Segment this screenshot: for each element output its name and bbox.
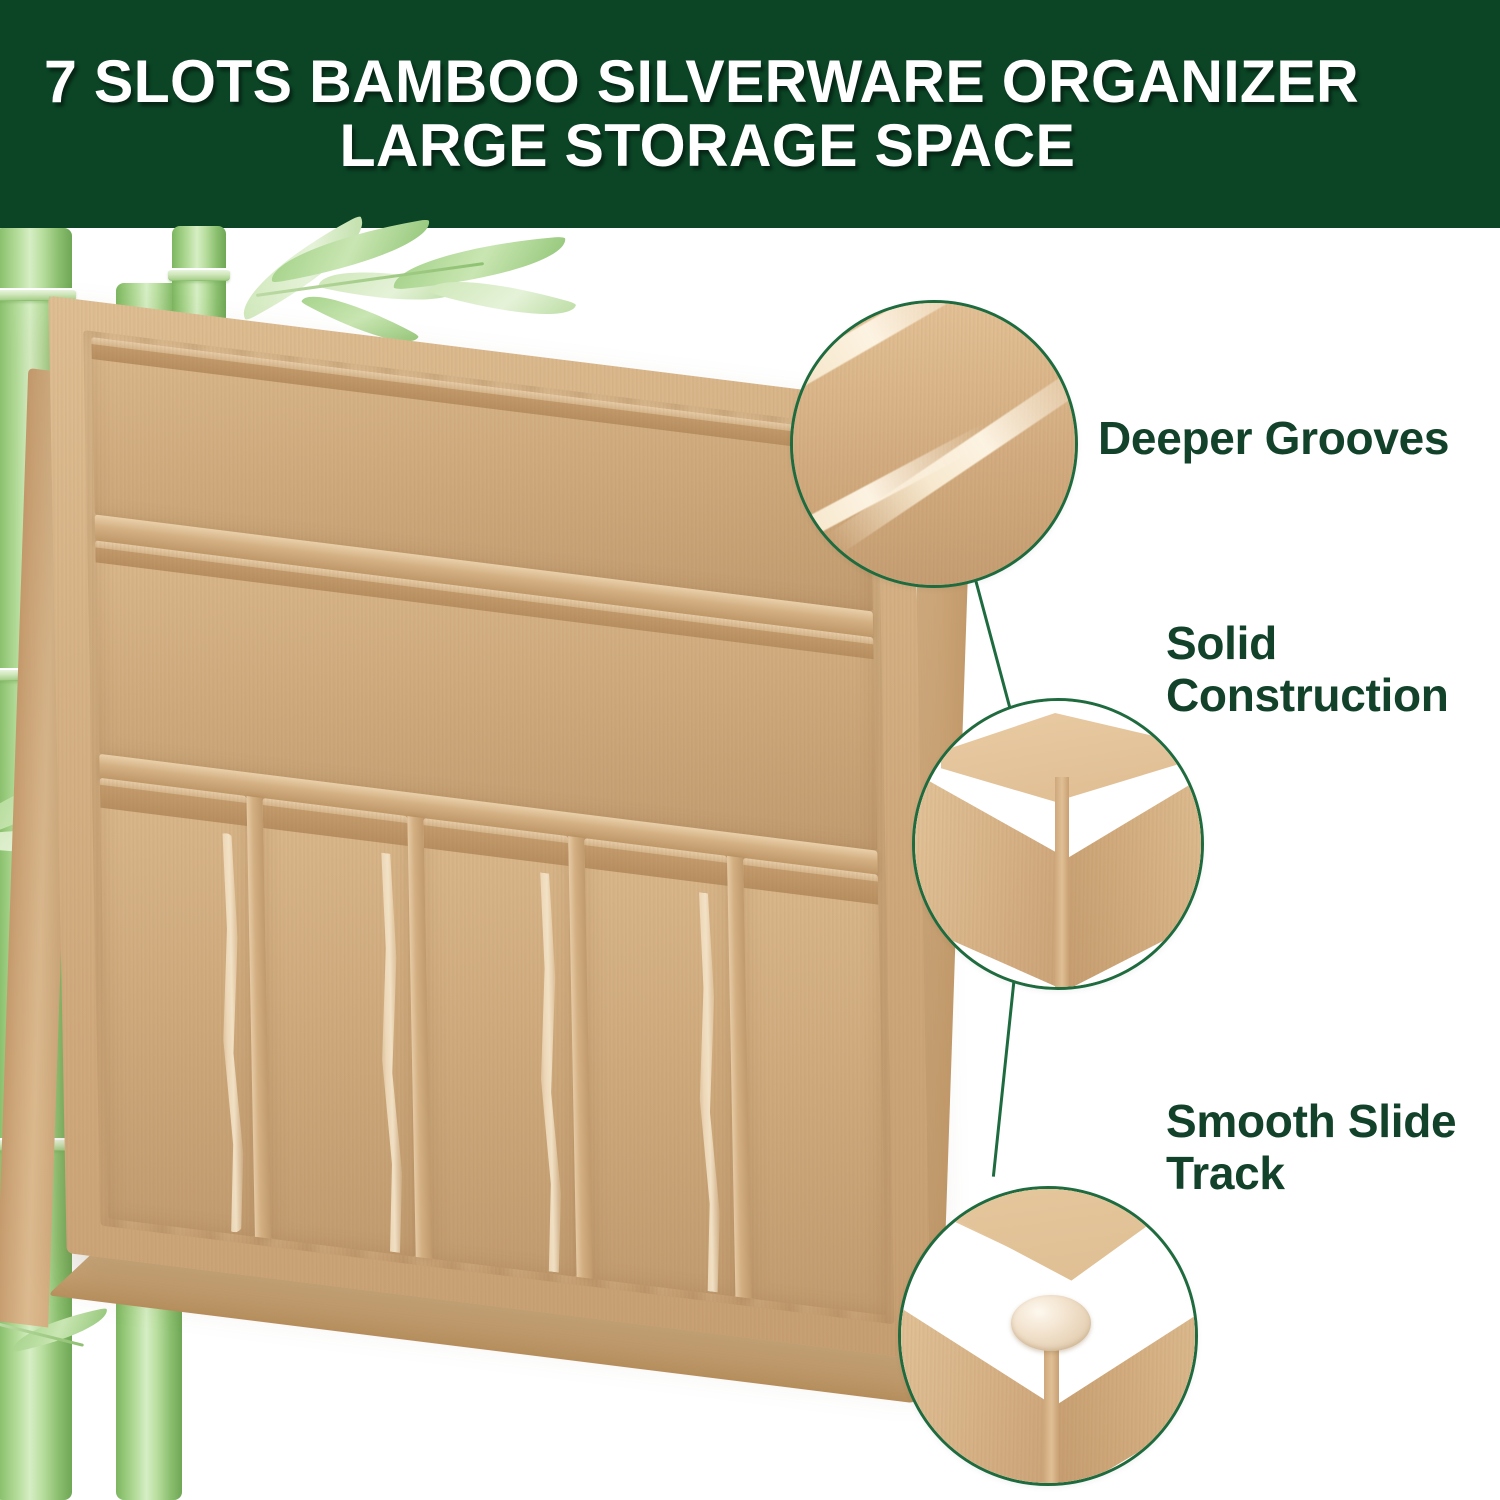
- page-title-line-2: LARGE STORAGE SPACE: [44, 114, 1449, 178]
- page-title-line-1: 7 SLOTS BAMBOO SILVERWARE ORGANIZER: [44, 50, 1449, 114]
- callout-circle-solid-construction[interactable]: [912, 698, 1204, 990]
- slot-5: [743, 858, 886, 1316]
- callout-label-deeper-grooves: Deeper Grooves: [1098, 413, 1449, 465]
- callout-circle-smooth-slide-track[interactable]: [898, 1186, 1198, 1486]
- product-scene: Deeper Grooves Solid Construction: [0, 228, 1500, 1500]
- track-vertical-edge: [1044, 1345, 1059, 1486]
- callout-label-smooth-slide-track: Smooth Slide Track: [1166, 1096, 1456, 1199]
- slot-2: [263, 798, 416, 1257]
- slot-1: [100, 778, 255, 1237]
- slot-3: [423, 818, 576, 1277]
- header-banner: 7 SLOTS BAMBOO SILVERWARE ORGANIZER LARG…: [0, 0, 1500, 228]
- product-infographic: 7 SLOTS BAMBOO SILVERWARE ORGANIZER LARG…: [0, 0, 1500, 1500]
- slot-4: [584, 838, 735, 1297]
- rubber-bumper-pad: [1011, 1295, 1091, 1351]
- callout-label-solid-construction: Solid Construction: [1166, 618, 1449, 721]
- corner-vertical-edge: [1055, 777, 1069, 990]
- tray-interior: [83, 330, 894, 1324]
- callout-circle-deeper-grooves[interactable]: [790, 300, 1078, 588]
